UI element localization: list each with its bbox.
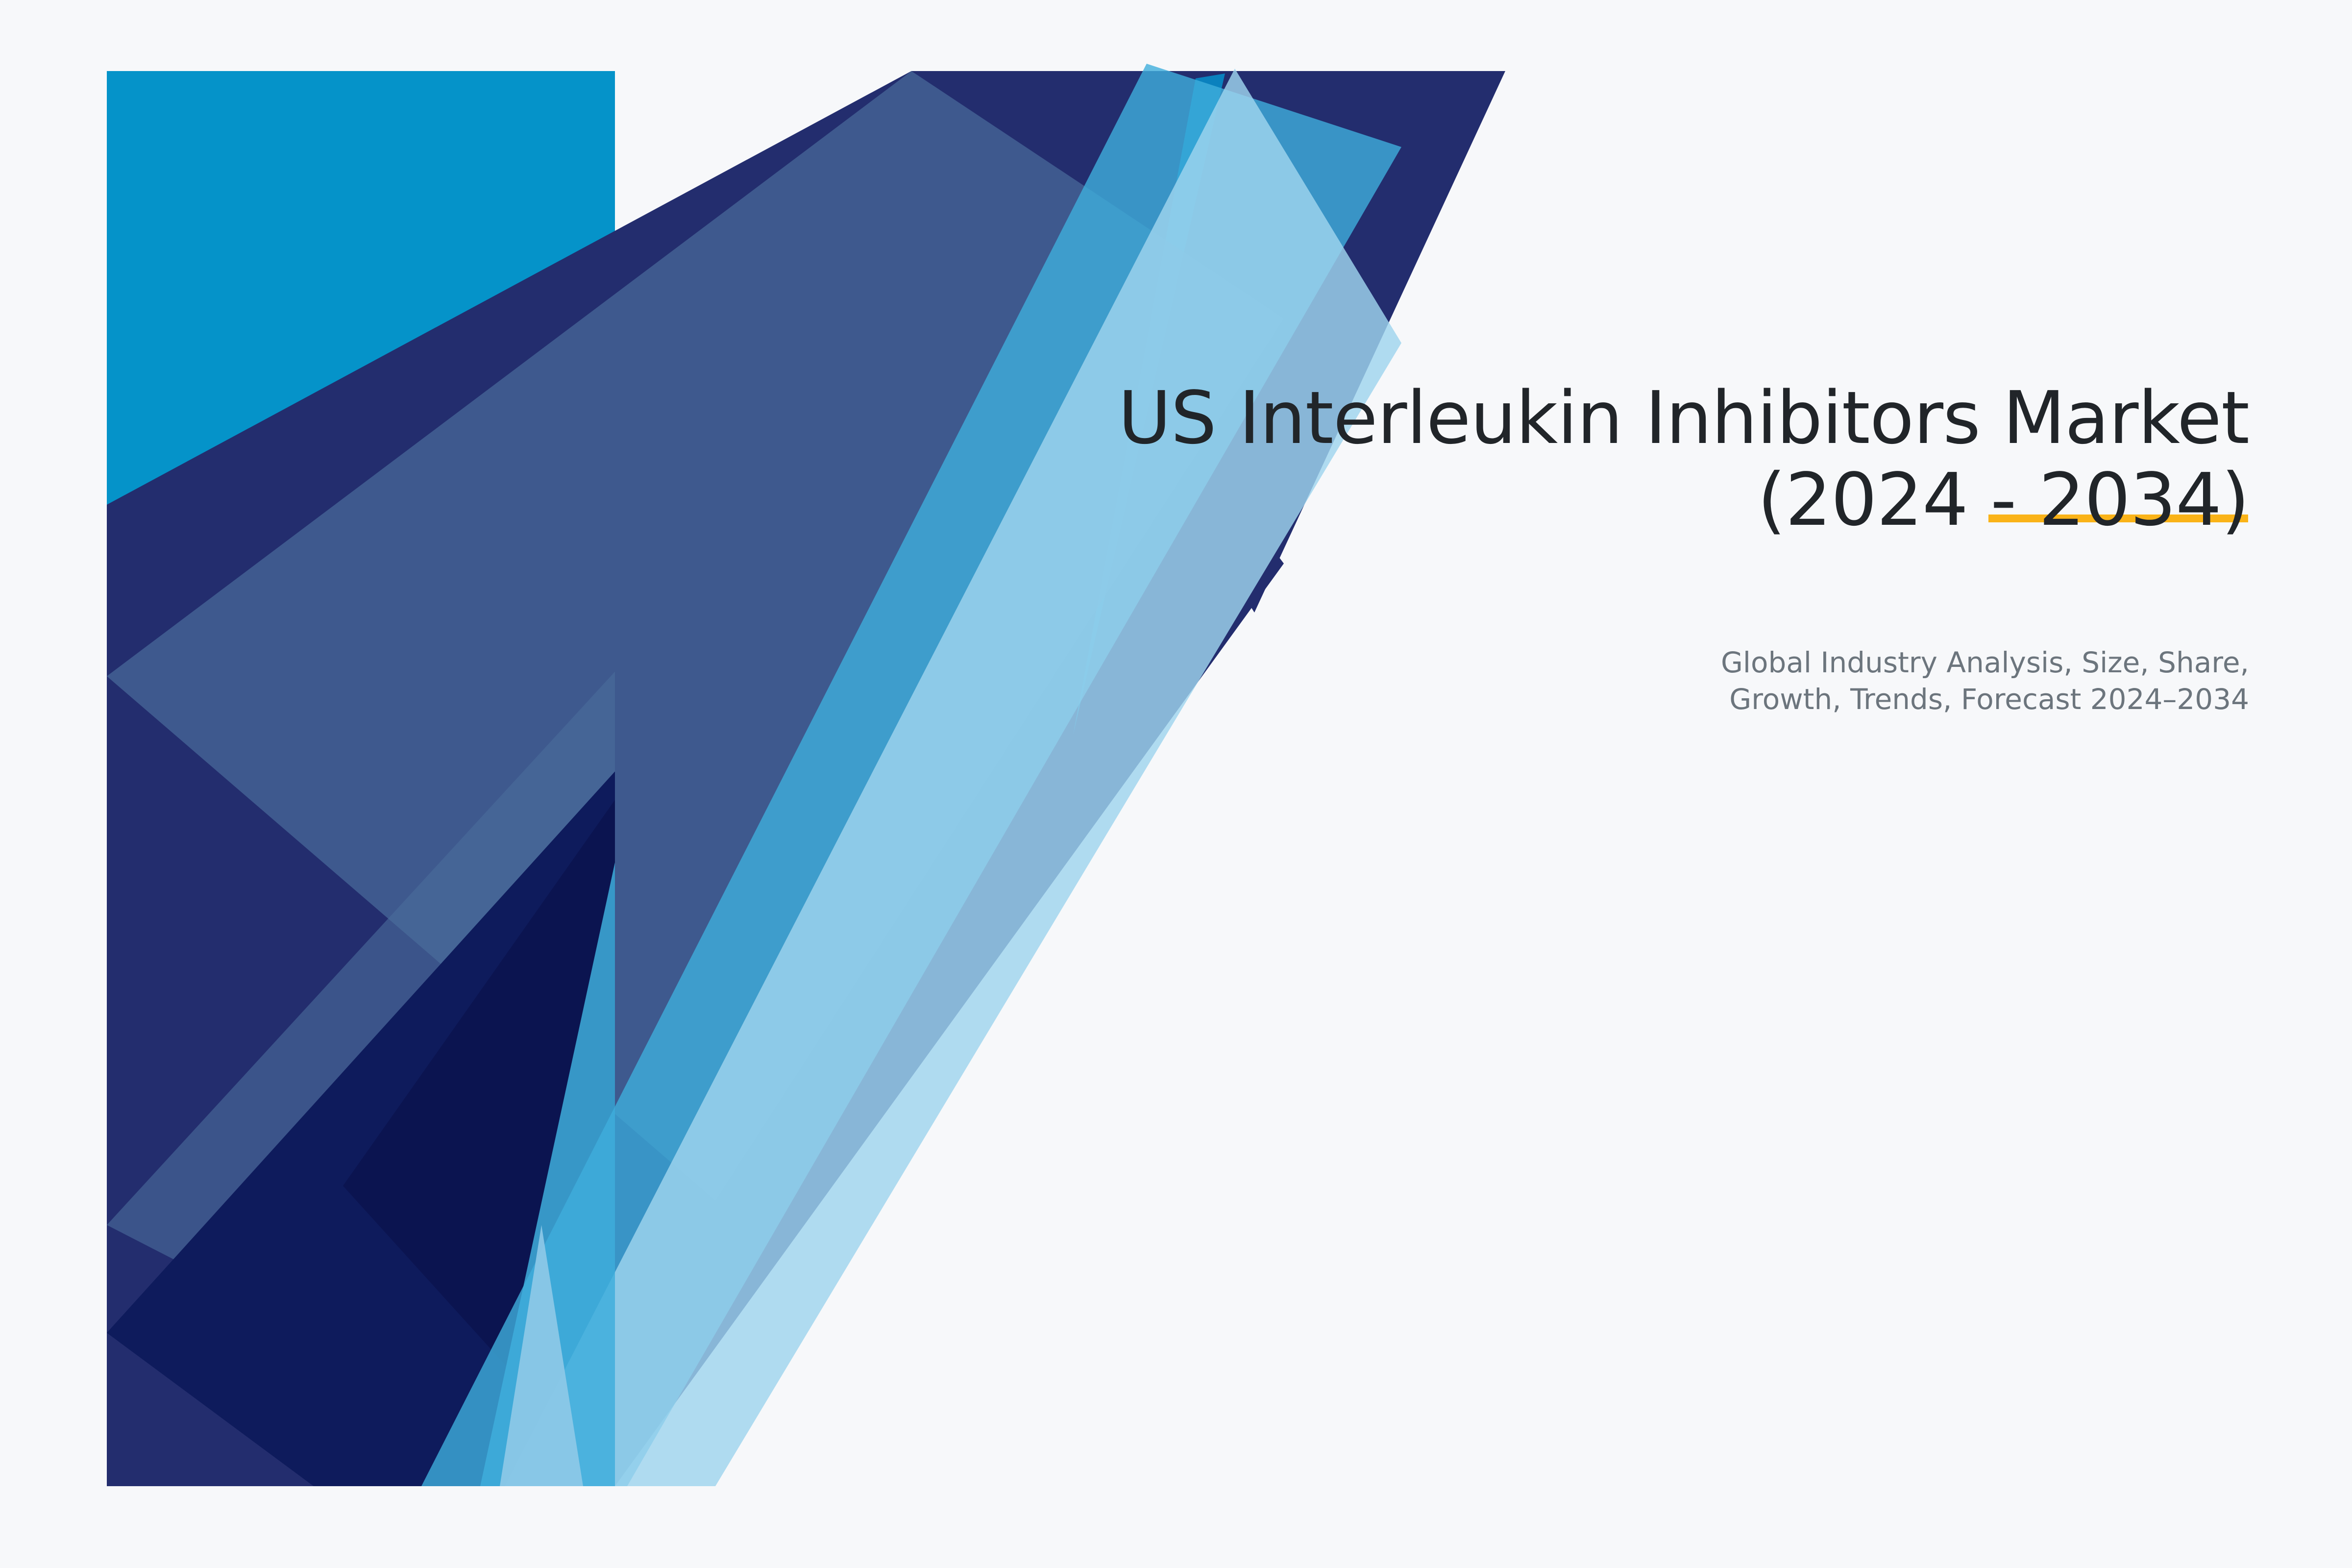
title-line-2: (2024 - 2034) xyxy=(926,459,2249,541)
report-cover-page: US Interleukin Inhibitors Market (2024 -… xyxy=(0,0,2352,1568)
artwork-base-layer xyxy=(107,71,615,1486)
title-line-2-wrapper: (2024 - 2034) xyxy=(926,459,2249,541)
page-title: US Interleukin Inhibitors Market (2024 -… xyxy=(926,377,2249,541)
artwork-slate-triangle-lower xyxy=(107,578,701,1486)
artwork-sky-stripe xyxy=(480,862,615,1486)
abstract-geometric-cover-art xyxy=(0,0,2352,1568)
page-subtitle: Global Industry Analysis, Size, Share, G… xyxy=(926,644,2249,718)
subtitle-line-2: Growth, Trends, Forecast 2024–2034 xyxy=(926,681,2249,718)
artwork-deep-navy-chevron xyxy=(107,671,706,1486)
title-line-1: US Interleukin Inhibitors Market xyxy=(926,377,2249,459)
artwork-sky-beam xyxy=(421,64,1401,1486)
artwork-light-spike xyxy=(500,1225,583,1486)
artwork-slate-panel xyxy=(107,71,1284,1200)
subtitle-line-1: Global Industry Analysis, Size, Share, xyxy=(926,644,2249,681)
artwork-navy-triangle xyxy=(107,71,1505,1486)
artwork-pale-panel xyxy=(505,69,1401,1486)
